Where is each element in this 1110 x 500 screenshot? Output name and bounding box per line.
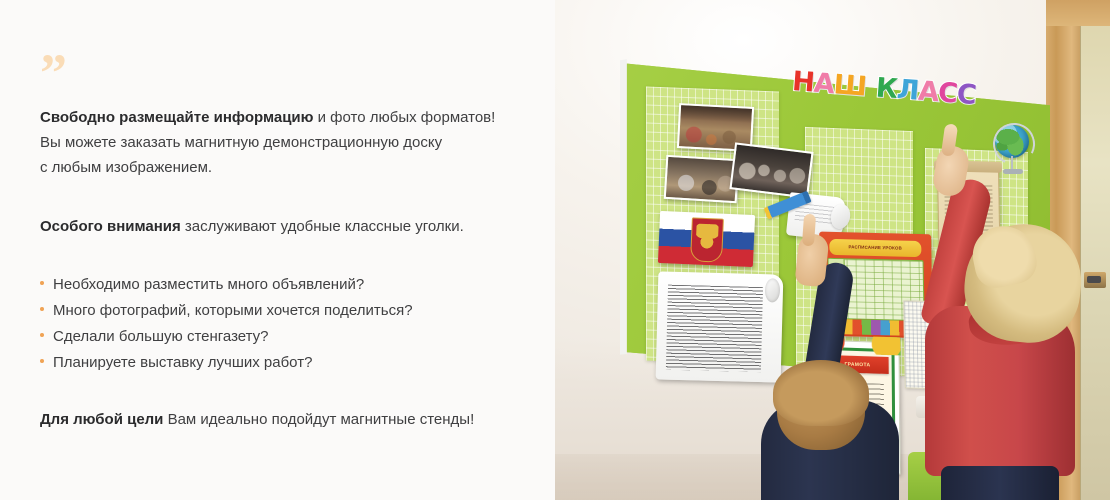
russian-flag (658, 211, 755, 267)
paragraph-1-bold: Свободно размещайте информацию (40, 109, 313, 126)
title-letter-s1: С (937, 79, 958, 107)
title-letter-k: К (875, 74, 898, 103)
bullet-dot-icon (40, 333, 44, 337)
red-child-legs (941, 466, 1059, 500)
paragraph-1: Свободно размещайте информацию и фото лю… (40, 105, 510, 180)
paragraph-3: Для любой цели Вам идеально подойдут маг… (40, 407, 510, 432)
title-letter-l: Л (896, 76, 919, 105)
list-item: Много фотографий, которыми хочется подел… (40, 298, 510, 323)
list-item: Необходимо разместить много объявлений? (40, 272, 510, 297)
title-letter-a1: А (813, 69, 835, 97)
navy-boy-pointing-finger (802, 214, 816, 247)
title-letter-s2: С (956, 80, 977, 108)
list-item: Сделали большую стенгазету? (40, 324, 510, 349)
title-letter-a2: А (917, 77, 939, 105)
paragraph-2-rest: заслуживают удобные классные уголки. (181, 218, 464, 235)
door-header (1046, 0, 1110, 26)
text-block: Свободно размещайте информацию и фото лю… (40, 105, 510, 432)
list-item: Планируете выставку лучших работ? (40, 350, 510, 375)
classroom-photo-3 (729, 142, 813, 198)
bullet-dot-icon (40, 307, 44, 311)
classroom-photo: НАШ КЛАСС (555, 0, 1110, 500)
paragraph-2-bold: Особого внимания (40, 218, 181, 235)
list-item-label: Необходимо разместить много объявлений? (53, 276, 364, 293)
globe-base (1003, 169, 1023, 174)
paragraph-3-rest: Вам идеально подойдут магнитные стенды! (163, 411, 474, 428)
paragraph-1-line-3: с любым изображением. (40, 159, 212, 176)
paragraph-2: Особого внимания заслуживают удобные кла… (40, 214, 510, 239)
list-item-label: Планируете выставку лучших работ? (53, 354, 312, 371)
list-item-label: Много фотографий, которыми хочется подел… (53, 302, 413, 319)
bullet-dot-icon (40, 359, 44, 363)
coat-of-arms-icon (690, 217, 724, 263)
paragraph-1-line-2: Вы можете заказать магнитную демонстраци… (40, 134, 442, 151)
paragraph-3-bold: Для любой цели (40, 411, 163, 428)
globe-stand (1011, 156, 1014, 170)
boy-in-navy-hoodie (725, 268, 915, 500)
text-column: ” Свободно размещайте информацию и фото … (0, 0, 555, 500)
title-letter-sh: Ш (833, 71, 867, 100)
promo-banner: ” Свободно размещайте информацию и фото … (0, 0, 1110, 500)
paragraph-1-rest: и фото любых форматов! (313, 109, 495, 126)
classroom-photo-2 (664, 155, 739, 203)
list-item-label: Сделали большую стенгазету? (53, 328, 269, 345)
bullet-dot-icon (40, 281, 44, 285)
feature-question-list: Необходимо разместить много объявлений? … (40, 272, 510, 375)
quotation-mark-icon: ” (40, 52, 68, 94)
title-letter-n: Н (791, 68, 815, 97)
navy-boy-hair (773, 360, 869, 426)
